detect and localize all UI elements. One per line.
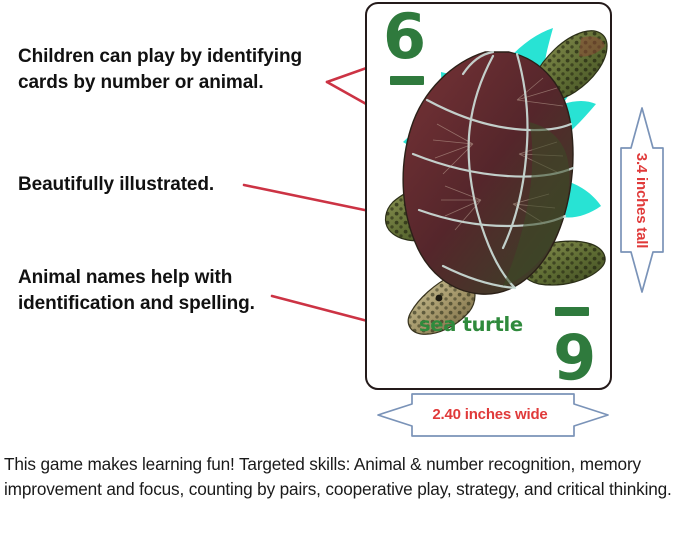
card-animal-name: sea turtle bbox=[419, 313, 523, 336]
height-dimension-text: 3.4 inches tall bbox=[634, 152, 651, 247]
playing-card[interactable]: 6 6 sea turtle bbox=[365, 2, 612, 390]
card-number-underline-bottom bbox=[555, 307, 589, 316]
callout-identify-cards: Children can play by identifying cards b… bbox=[18, 44, 330, 96]
width-dimension-label: 2.40 inches wide bbox=[366, 406, 614, 423]
product-annotation-figure: Children can play by identifying cards b… bbox=[0, 0, 679, 538]
callout-illustration: Beautifully illustrated. bbox=[18, 172, 318, 198]
callout-animal-names: Animal names help with identification an… bbox=[18, 265, 318, 317]
card-number-bottom: 6 bbox=[553, 325, 596, 384]
card-number-top: 6 bbox=[383, 8, 426, 67]
card-number-underline-top bbox=[390, 76, 424, 85]
product-description-paragraph: This game makes learning fun! Targeted s… bbox=[4, 452, 676, 503]
height-dimension-label: 3.4 inches tall bbox=[618, 102, 666, 298]
